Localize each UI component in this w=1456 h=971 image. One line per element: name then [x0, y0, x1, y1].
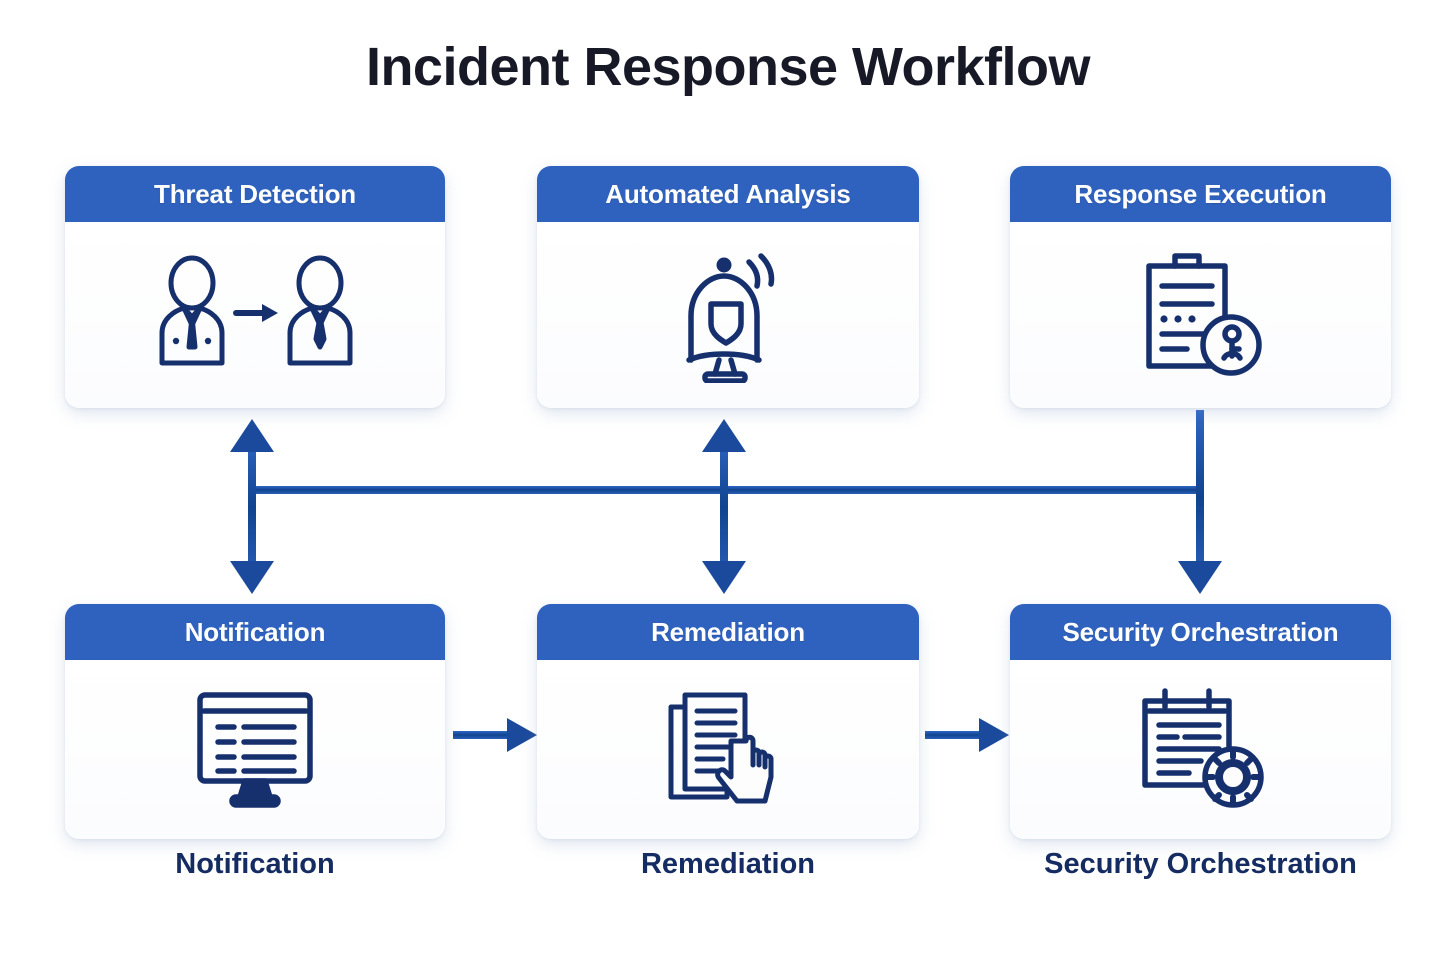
- page-title: Incident Response Workflow: [0, 38, 1456, 97]
- horizontal-bus-line: [252, 486, 1200, 494]
- caption-security-orchestration: Security Orchestration: [1010, 848, 1391, 881]
- card-title-threat-detection: Threat Detection: [154, 179, 356, 210]
- connector-response-execution-security-orchestration: [1178, 410, 1222, 594]
- card-body-notification: [65, 660, 445, 839]
- card-title-automated-analysis: Automated Analysis: [605, 179, 850, 210]
- card-title-response-execution: Response Execution: [1074, 179, 1326, 210]
- document-gear-icon: [1131, 685, 1271, 815]
- card-title-notification: Notification: [185, 617, 326, 648]
- alarm-shield-monitor-icon: [661, 248, 796, 383]
- two-persons-transfer-icon: [150, 255, 360, 375]
- card-header-notification: Notification: [65, 604, 445, 660]
- card-header-remediation: Remediation: [537, 604, 919, 660]
- card-security-orchestration[interactable]: Security Orchestration: [1010, 604, 1391, 839]
- card-body-security-orchestration: [1010, 660, 1391, 839]
- card-response-execution[interactable]: Response Execution: [1010, 166, 1391, 408]
- connector-automated-analysis-remediation: [702, 419, 746, 594]
- card-title-remediation: Remediation: [651, 617, 805, 648]
- card-remediation[interactable]: Remediation: [537, 604, 919, 839]
- monitor-list-icon: [190, 687, 320, 812]
- clipboard-badge-icon: [1131, 248, 1271, 383]
- card-title-security-orchestration: Security Orchestration: [1063, 617, 1339, 648]
- card-header-security-orchestration: Security Orchestration: [1010, 604, 1391, 660]
- diagram-canvas: Incident Response Workflow: [0, 0, 1456, 971]
- card-header-threat-detection: Threat Detection: [65, 166, 445, 222]
- caption-remediation: Remediation: [537, 848, 919, 881]
- card-notification[interactable]: Notification: [65, 604, 445, 839]
- card-body-response-execution: [1010, 222, 1391, 408]
- flow-arrow-notification-to-remediation: [453, 718, 537, 752]
- connector-threat-detection-notification: [230, 419, 274, 594]
- card-body-threat-detection: [65, 222, 445, 408]
- flow-arrow-remediation-to-security-orchestration: [925, 718, 1009, 752]
- card-body-automated-analysis: [537, 222, 919, 408]
- card-header-response-execution: Response Execution: [1010, 166, 1391, 222]
- card-header-automated-analysis: Automated Analysis: [537, 166, 919, 222]
- card-body-remediation: [537, 660, 919, 839]
- card-automated-analysis[interactable]: Automated Analysis: [537, 166, 919, 408]
- documents-hand-cursor-icon: [661, 685, 796, 815]
- caption-notification: Notification: [65, 848, 445, 881]
- card-threat-detection[interactable]: Threat Detection: [65, 166, 445, 408]
